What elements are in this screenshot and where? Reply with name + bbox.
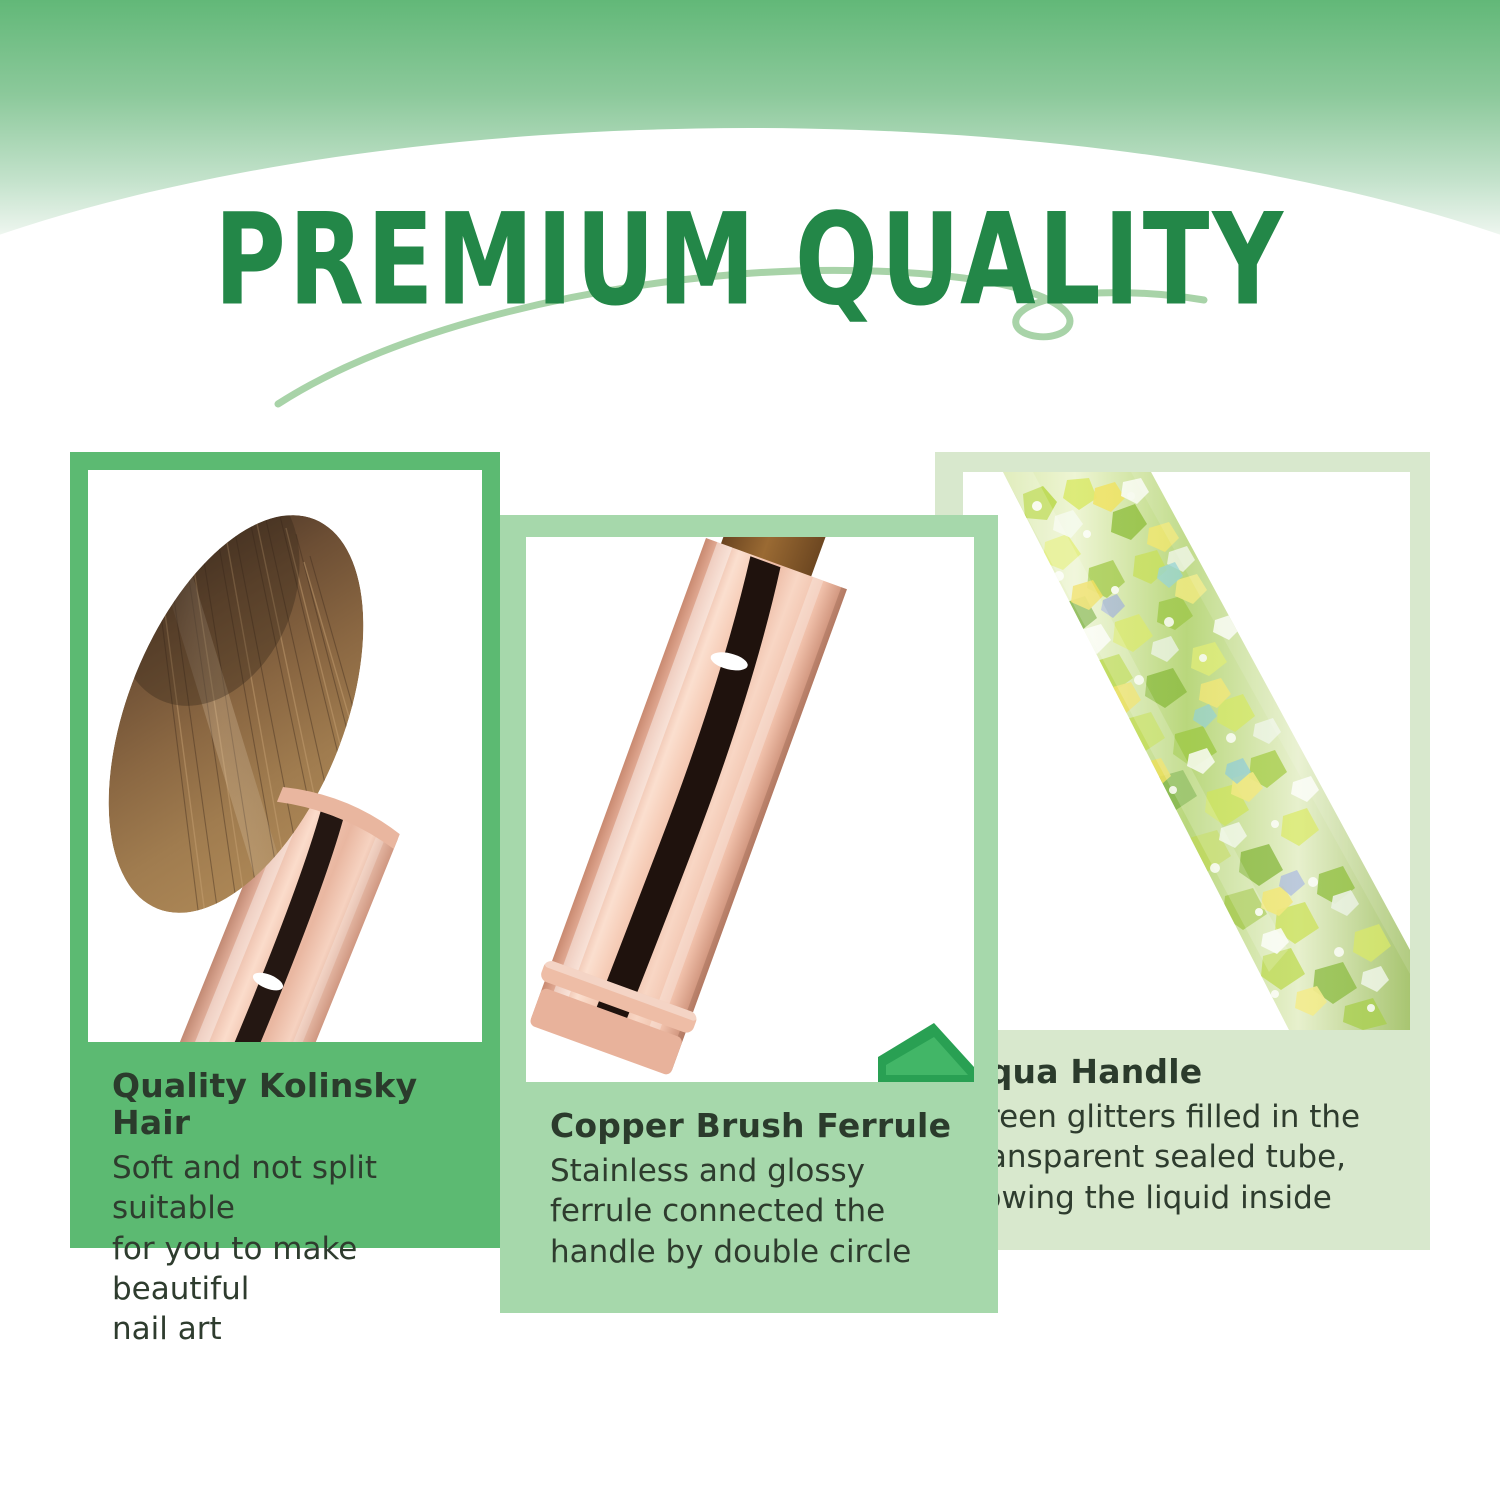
kolinsky-hair-caption: Quality Kolinsky Hair Soft and not split… <box>88 1042 482 1349</box>
feature-card-copper-ferrule: Copper Brush Ferrule Stainless and gloss… <box>500 515 998 1313</box>
kolinsky-brush-head-image <box>88 470 482 1042</box>
card-title-handle: Aqua Handle <box>963 1054 1388 1091</box>
page-title: PREMIUM QUALITY <box>214 196 1286 323</box>
card-title-ferrule: Copper Brush Ferrule <box>550 1108 952 1145</box>
green-glitter-handle-image <box>963 472 1410 1030</box>
page-title-wrap: PREMIUM QUALITY <box>0 196 1500 300</box>
card-body-handle: Green glitters filled in the transparent… <box>963 1097 1388 1218</box>
card-body-kolinsky: Soft and not split suitable for you to m… <box>112 1148 458 1349</box>
copper-ferrule-image <box>526 537 974 1082</box>
feature-card-aqua-handle: Aqua Handle Green glitters filled in the… <box>935 452 1430 1250</box>
feature-card-kolinsky-hair: Quality Kolinsky Hair Soft and not split… <box>70 452 500 1248</box>
card-title-kolinsky: Quality Kolinsky Hair <box>112 1068 458 1142</box>
copper-ferrule-caption: Copper Brush Ferrule Stainless and gloss… <box>526 1082 976 1272</box>
aqua-handle-caption: Aqua Handle Green glitters filled in the… <box>963 1030 1410 1218</box>
card-body-ferrule: Stainless and glossy ferrule connected t… <box>550 1151 952 1272</box>
